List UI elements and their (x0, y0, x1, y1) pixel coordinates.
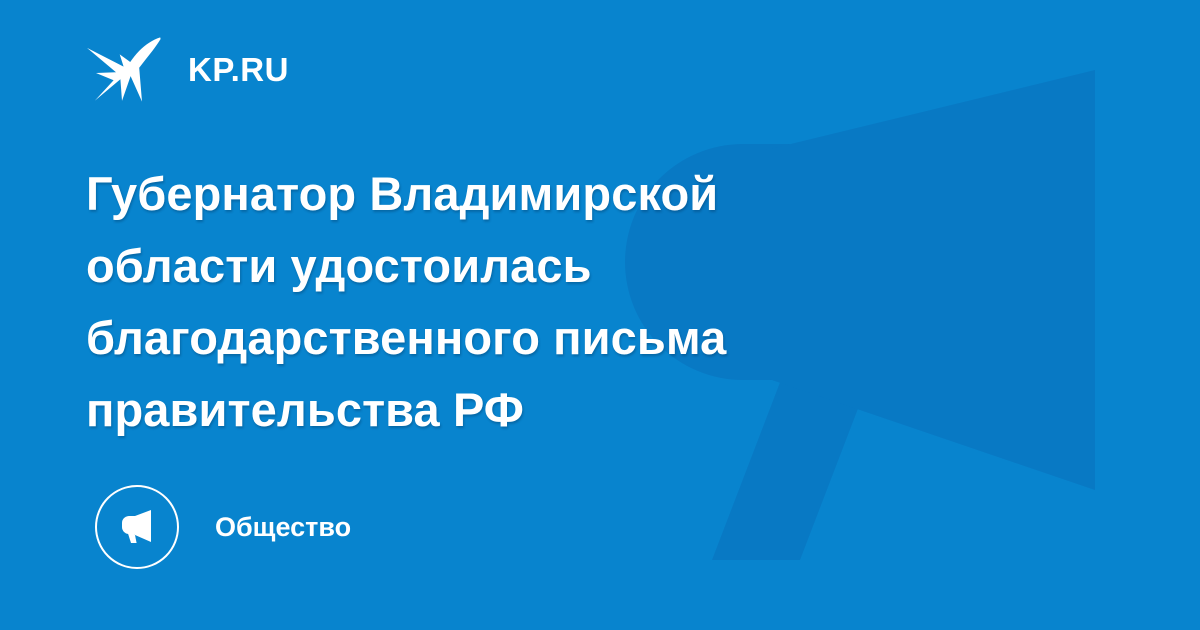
megaphone-icon (114, 504, 160, 550)
article-social-card: KP.RU Губернатор Владимирской области уд… (0, 0, 1200, 630)
headline-line-4: правительства РФ (86, 374, 916, 446)
category-icon-circle (95, 485, 179, 569)
category-label: Общество (215, 514, 351, 541)
page-title: Губернатор Владимирской области удостоил… (86, 158, 916, 446)
category-badge[interactable]: Общество (95, 485, 351, 569)
headline-line-2: области удостоилась (86, 230, 916, 302)
headline-line-1: Губернатор Владимирской (86, 158, 916, 230)
headline-line-3: благодарственного письма (86, 302, 916, 374)
site-logo-text: KP.RU (188, 53, 289, 86)
swallow-bird-icon (86, 36, 162, 102)
site-logo[interactable]: KP.RU (86, 33, 289, 105)
